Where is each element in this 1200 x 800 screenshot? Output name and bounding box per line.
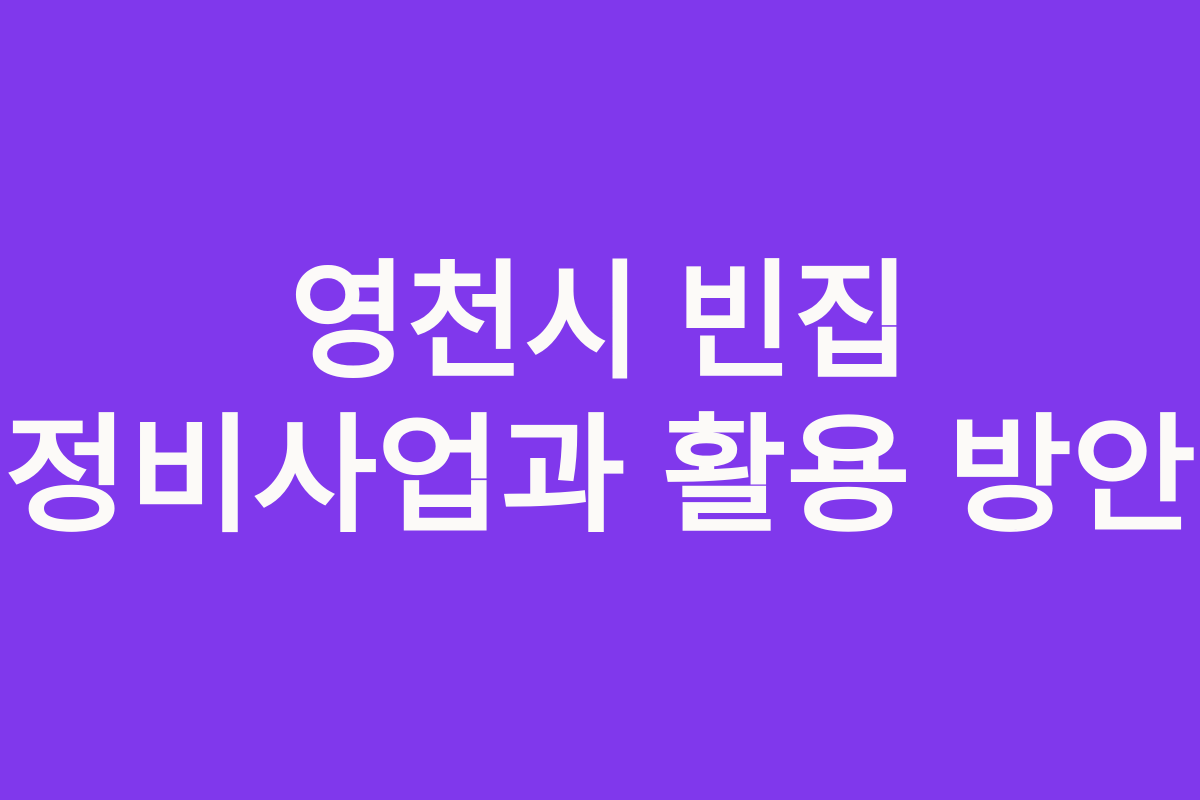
headline-line-2: 정비사업과 활용 방안 <box>0 413 1200 541</box>
title-card: 영천시 빈집 정비사업과 활용 방안 <box>0 0 1200 800</box>
headline-line-2-text: 정비사업과 활용 방안 <box>4 413 1195 541</box>
headline-line-1: 영천시 빈집 <box>0 259 1200 387</box>
